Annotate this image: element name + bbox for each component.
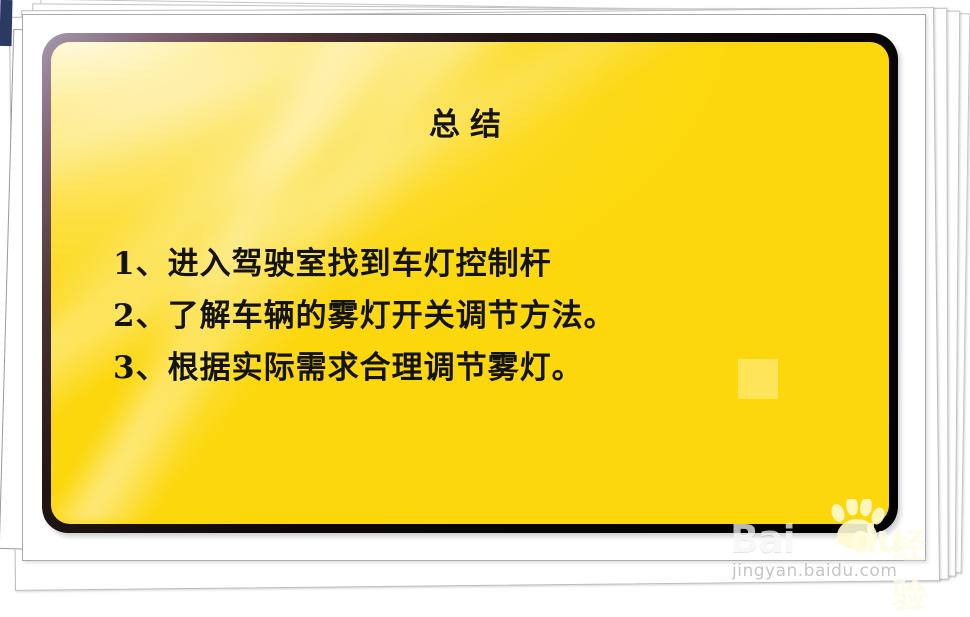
bullet-index-1: 1、 xyxy=(113,238,168,290)
slide-face: 总结 1、进入驾驶室找到车灯控制杆 2、了解车辆的雾灯开关调节方法。 3、根据实… xyxy=(51,42,889,524)
bullet-text-3: 根据实际需求合理调节雾灯。 xyxy=(168,350,584,386)
slide-title: 总结 xyxy=(51,99,889,144)
bullet-index-3: 3、 xyxy=(113,342,168,394)
bullet-line-3: 3、根据实际需求合理调节雾灯。 xyxy=(113,342,833,394)
slide-content: 总结 1、进入驾驶室找到车灯控制杆 2、了解车辆的雾灯开关调节方法。 3、根据实… xyxy=(51,42,889,524)
bullet-text-2: 了解车辆的雾灯开关调节方法。 xyxy=(168,298,616,334)
bullet-text-1: 进入驾驶室找到车灯控制杆 xyxy=(168,246,552,282)
screenshot-stage: 总结 1、进入驾驶室找到车灯控制杆 2、了解车辆的雾灯开关调节方法。 3、根据实… xyxy=(0,0,970,591)
bullet-index-2: 2、 xyxy=(113,290,168,342)
presentation-slide: 总结 1、进入驾驶室找到车灯控制杆 2、了解车辆的雾灯开关调节方法。 3、根据实… xyxy=(42,33,898,533)
bullet-list: 1、进入驾驶室找到车灯控制杆 2、了解车辆的雾灯开关调节方法。 3、根据实际需求… xyxy=(113,238,833,394)
bullet-line-1: 1、进入驾驶室找到车灯控制杆 xyxy=(113,238,833,290)
bullet-line-2: 2、了解车辆的雾灯开关调节方法。 xyxy=(113,290,833,342)
paper-sheet-blue-sliver xyxy=(0,0,12,46)
